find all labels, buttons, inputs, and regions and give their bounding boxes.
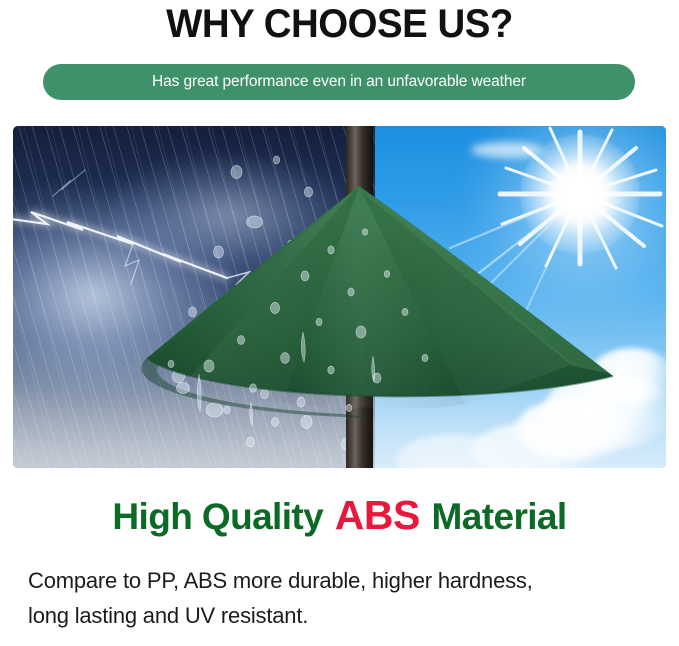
- why-choose-us-infographic: WHY CHOOSE US? Has great performance eve…: [0, 0, 679, 646]
- description-line-2: long lasting and UV resistant.: [28, 598, 656, 633]
- material-headline-lead: High Quality: [112, 496, 332, 537]
- page-title: WHY CHOOSE US?: [14, 2, 666, 46]
- description-text: Compare to PP, ABS more durable, higher …: [28, 563, 656, 633]
- description-line-1: Compare to PP, ABS more durable, higher …: [28, 563, 656, 598]
- subtitle-badge: Has great performance even in an unfavor…: [43, 64, 635, 100]
- product-weather-photo: [13, 126, 666, 468]
- material-headline-trail: Material: [422, 496, 567, 537]
- material-headline-accent: ABS: [333, 492, 422, 538]
- subtitle-badge-label: Has great performance even in an unfavor…: [152, 73, 526, 91]
- material-headline: High Quality ABS Material: [0, 494, 679, 538]
- green-cone-baffle: [13, 126, 666, 468]
